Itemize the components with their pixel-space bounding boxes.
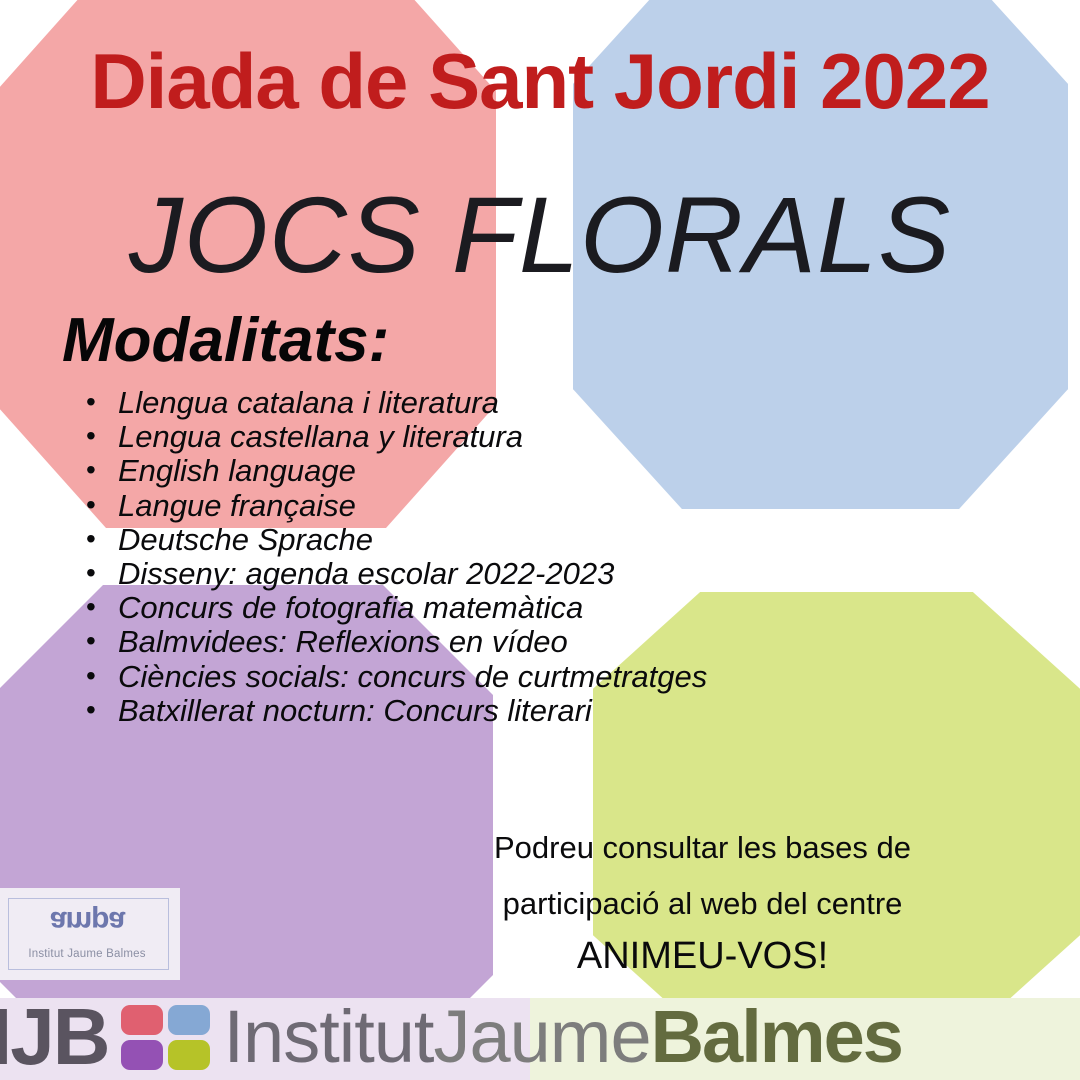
- logo-bar-content: IJB Institut Jaume Balmes: [0, 997, 1080, 1077]
- ampa-subtitle: Institut Jaume Balmes: [0, 948, 180, 960]
- call-to-action: ANIMEU-VOS!: [410, 932, 995, 980]
- list-item: Lengua castellana y literatura: [84, 420, 707, 454]
- closing-line-1: Podreu consultar les bases de: [410, 820, 995, 876]
- institute-logo-bar: IJB Institut Jaume Balmes: [0, 994, 1080, 1080]
- logo-word-institut: Institut: [224, 1000, 434, 1074]
- list-item: Llengua catalana i literatura: [84, 386, 707, 420]
- section-heading-modalitats: Modalitats:: [62, 305, 389, 376]
- list-item: Ciències socials: concurs de curtmetratg…: [84, 660, 707, 694]
- logo-initials: IJB: [0, 997, 109, 1077]
- list-item: Disseny: agenda escolar 2022-2023: [84, 557, 707, 591]
- logo-word-balmes: Balmes: [651, 1000, 902, 1074]
- list-item: Batxillerat nocturn: Concurs literari: [84, 694, 707, 728]
- logo-square-purple-icon: [121, 1040, 163, 1070]
- poster-title: Diada de Sant Jordi 2022: [0, 36, 1080, 127]
- list-item: Balmvidees: Reflexions en vídeo: [84, 625, 707, 659]
- logo-square-green-icon: [168, 1040, 210, 1070]
- closing-information: Podreu consultar les bases de participac…: [410, 820, 995, 980]
- logo-word-jaume: Jaume: [434, 1000, 651, 1074]
- list-item: English language: [84, 454, 707, 488]
- logo-squares-grid: [121, 1005, 210, 1070]
- modalities-list: Llengua catalana i literatura Lengua cas…: [84, 386, 707, 728]
- logo-square-red-icon: [121, 1005, 163, 1035]
- list-item: Concurs de fotografia matemàtica: [84, 591, 707, 625]
- ampa-logo: ampa Institut Jaume Balmes: [0, 888, 180, 980]
- list-item: Deutsche Sprache: [84, 523, 707, 557]
- main-heading: JOCS FLORALS: [0, 172, 1080, 297]
- logo-square-blue-icon: [168, 1005, 210, 1035]
- closing-line-2: participació al web del centre: [410, 876, 995, 932]
- ampa-wordmark: ampa: [0, 906, 180, 936]
- list-item: Langue française: [84, 489, 707, 523]
- poster-canvas: Diada de Sant Jordi 2022 JOCS FLORALS Mo…: [0, 0, 1080, 1080]
